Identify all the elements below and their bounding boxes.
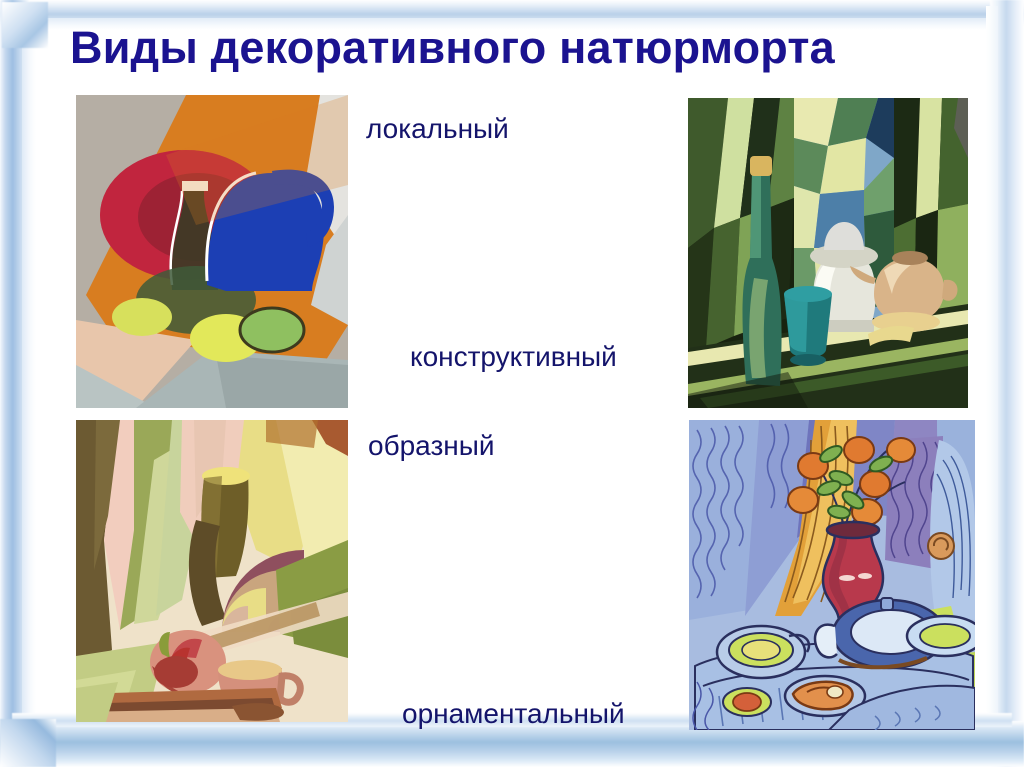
artwork-ornamental-illustration xyxy=(689,420,975,730)
artwork-local-illustration xyxy=(76,95,348,408)
artwork-still-life-constructive xyxy=(688,98,968,408)
frame-border-right-inner xyxy=(986,6,998,746)
page-title: Виды декоративного натюрморта xyxy=(70,24,970,71)
label-figurative: образный xyxy=(368,430,495,462)
artwork-still-life-ornamental xyxy=(689,420,975,730)
frame-corner-bottom-left xyxy=(0,719,56,767)
label-ornamental: орнаментальный xyxy=(402,698,625,730)
artwork-constructive-illustration xyxy=(688,98,968,408)
frame-border-left xyxy=(0,0,30,767)
artwork-figurative-illustration xyxy=(76,420,348,722)
artwork-still-life-local xyxy=(76,95,348,408)
slide-canvas: Виды декоративного натюрморта xyxy=(0,0,1024,767)
frame-border-right xyxy=(990,0,1024,767)
label-local: локальный xyxy=(366,113,509,145)
frame-corner-top-left xyxy=(2,2,48,48)
label-constructive: конструктивный xyxy=(410,341,617,373)
frame-border-left-inner xyxy=(22,8,36,760)
artwork-still-life-figurative xyxy=(76,420,348,722)
